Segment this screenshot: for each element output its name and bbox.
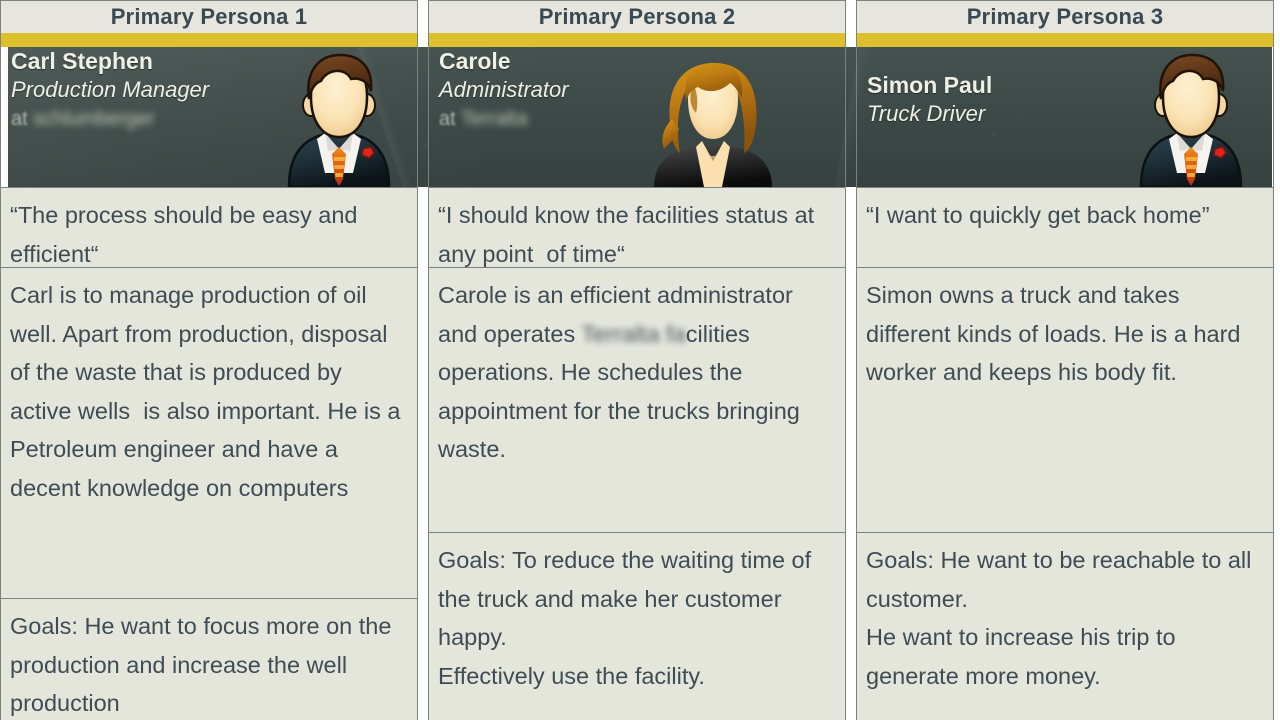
persona-goals-cell-1: Goals: He want to focus more on the prod… xyxy=(0,599,418,720)
persona-quote: “I want to quickly get back home” xyxy=(866,196,1264,235)
persona-quote-cell-2: “I should know the facilities status at … xyxy=(428,187,846,268)
persona-identity-2: Carole Administrator at Terralta xyxy=(439,47,705,134)
persona-quote-cell-3: “I want to quickly get back home” xyxy=(856,187,1274,268)
persona-quote-cell-1: “The process should be easy and efficien… xyxy=(0,187,418,268)
persona-company-name: Terralta xyxy=(461,108,528,130)
persona-identity-1: Carl Stephen Production Manager at schlu… xyxy=(11,47,277,134)
persona-goals: Goals: He want to focus more on the prod… xyxy=(10,607,408,720)
persona-description-part: Simon owns a truck and takes different k… xyxy=(866,282,1247,385)
persona-description-part: Carl is to manage production of oil well… xyxy=(10,282,407,501)
persona-title-1: Primary Persona 1 xyxy=(0,0,418,33)
persona-description-cell-3: Simon owns a truck and takes different k… xyxy=(856,268,1274,533)
persona-description: Simon owns a truck and takes different k… xyxy=(866,276,1264,392)
persona-board: Primary Persona 1 Carl Stephen Productio… xyxy=(0,0,1280,720)
persona-column-2: Primary Persona 2 Carole Administrator a… xyxy=(428,0,846,720)
persona-role: Administrator xyxy=(439,75,705,104)
persona-company-prefix: at xyxy=(439,108,456,130)
persona-goals-cell-2: Goals: To reduce the waiting time of the… xyxy=(428,533,846,720)
persona-description: Carole is an efficient administrator and… xyxy=(438,276,836,469)
persona-header-area-3: Simon Paul Truck Driver xyxy=(856,33,1274,187)
persona-title-label: Primary Persona 1 xyxy=(111,6,308,28)
persona-company-line: at schlumberger xyxy=(11,104,277,134)
persona-title-label: Primary Persona 3 xyxy=(967,6,1164,28)
persona-header-area-2: Carole Administrator at Terralta xyxy=(428,33,846,187)
persona-description-redacted: Terralta fa xyxy=(581,321,686,347)
persona-role: Truck Driver xyxy=(867,99,1133,128)
persona-description-cell-2: Carole is an efficient administrator and… xyxy=(428,268,846,533)
persona-name: Carl Stephen xyxy=(11,47,277,75)
persona-role: Production Manager xyxy=(11,75,277,104)
persona-header-area-1: Carl Stephen Production Manager at schlu… xyxy=(0,33,418,187)
persona-company-prefix: at xyxy=(11,108,28,130)
persona-title-3: Primary Persona 3 xyxy=(856,0,1274,33)
persona-goals-cell-3: Goals: He want to be reachable to all cu… xyxy=(856,533,1274,720)
persona-quote: “The process should be easy and efficien… xyxy=(10,196,408,268)
persona-company-name: schlumberger xyxy=(33,108,154,130)
persona-description: Carl is to manage production of oil well… xyxy=(10,276,408,507)
persona-identity-3: Simon Paul Truck Driver xyxy=(867,71,1133,128)
persona-name: Simon Paul xyxy=(867,71,1133,99)
persona-goals: Goals: To reduce the waiting time of the… xyxy=(438,541,836,695)
persona-title-label: Primary Persona 2 xyxy=(539,6,736,28)
persona-name: Carole xyxy=(439,47,705,75)
persona-column-1: Primary Persona 1 Carl Stephen Productio… xyxy=(0,0,418,720)
persona-company-line: at Terralta xyxy=(439,104,705,134)
persona-description-cell-1: Carl is to manage production of oil well… xyxy=(0,268,418,599)
persona-column-3: Primary Persona 3 Simon Paul Truck Drive… xyxy=(856,0,1274,720)
persona-quote: “I should know the facilities status at … xyxy=(438,196,836,268)
persona-title-2: Primary Persona 2 xyxy=(428,0,846,33)
persona-goals: Goals: He want to be reachable to all cu… xyxy=(866,541,1264,695)
